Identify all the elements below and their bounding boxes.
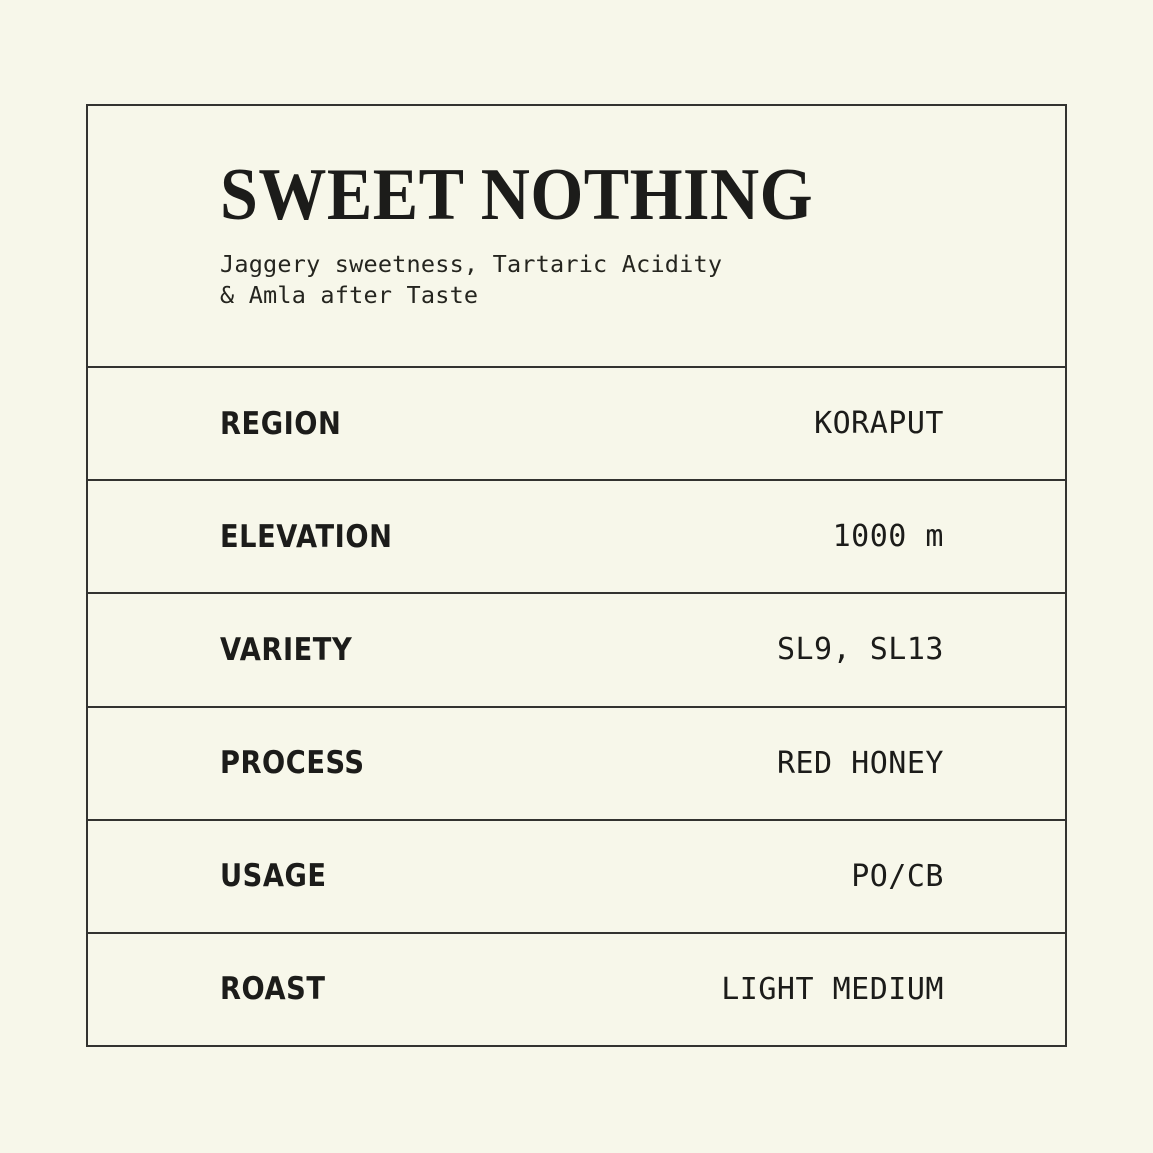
table-row: PROCESS RED HONEY (88, 708, 1065, 821)
table-row: USAGE PO/CB (88, 821, 1065, 934)
product-tagline: Jaggery sweetness, Tartaric Acidity & Am… (220, 249, 1065, 311)
spec-label-region: REGION (220, 406, 341, 442)
spec-value-roast: LIGHT MEDIUM (721, 972, 944, 1007)
spec-label-process: PROCESS (220, 745, 365, 781)
table-row: VARIETY SL9, SL13 (88, 594, 1065, 707)
spec-table: REGION KORAPUT ELEVATION 1000 m VARIETY … (88, 368, 1065, 1045)
spec-value-variety: SL9, SL13 (777, 632, 944, 667)
spec-label-variety: VARIETY (220, 632, 352, 668)
spec-label-usage: USAGE (220, 858, 327, 894)
table-row: REGION KORAPUT (88, 368, 1065, 481)
spec-value-usage: PO/CB (851, 859, 944, 894)
spec-value-region: KORAPUT (814, 406, 944, 441)
spec-label-roast: ROAST (220, 971, 325, 1007)
table-row: ROAST LIGHT MEDIUM (88, 934, 1065, 1045)
page-root: SWEET NOTHING Jaggery sweetness, Tartari… (0, 0, 1153, 1153)
spec-label-elevation: ELEVATION (220, 519, 392, 555)
spec-value-process: RED HONEY (777, 746, 944, 781)
coffee-spec-card: SWEET NOTHING Jaggery sweetness, Tartari… (86, 104, 1067, 1047)
table-row: ELEVATION 1000 m (88, 481, 1065, 594)
spec-value-elevation: 1000 m (833, 519, 944, 554)
page-title: SWEET NOTHING (220, 161, 997, 229)
card-header: SWEET NOTHING Jaggery sweetness, Tartari… (88, 106, 1065, 368)
